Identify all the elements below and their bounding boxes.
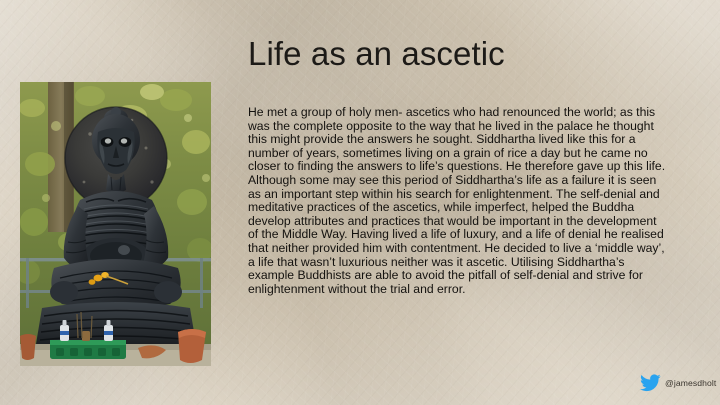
fasting-buddha-statue-photo (20, 82, 211, 366)
twitter-bird-icon (640, 374, 661, 392)
twitter-credit[interactable]: @jamesdholt (640, 374, 716, 392)
statue-illustration (20, 82, 211, 366)
twitter-bird-glyph (640, 374, 661, 392)
presentation-slide: Life as an ascetic He met a group of hol… (0, 0, 720, 405)
twitter-handle: @jamesdholt (665, 378, 716, 388)
slide-title: Life as an ascetic (248, 34, 678, 74)
slide-body-text: He met a group of holy men- ascetics who… (248, 106, 668, 296)
